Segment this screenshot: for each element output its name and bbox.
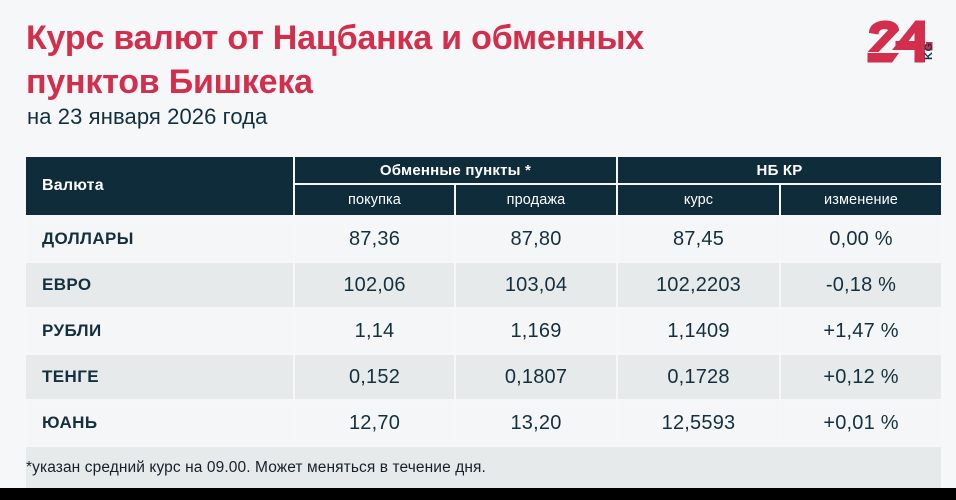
cell-currency-name: ДОЛЛАРЫ (26, 217, 293, 261)
column-header-currency: Валюта (26, 157, 293, 215)
cell-sell: 0,1807 (456, 355, 616, 399)
cell-currency-name: ЮАНЬ (26, 401, 293, 445)
cell-change: -0,18 % (781, 263, 941, 307)
cell-rate: 1,1409 (618, 309, 779, 353)
cell-rate: 102,2203 (618, 263, 779, 307)
cell-buy: 102,06 (295, 263, 454, 307)
cell-currency-name: РУБЛИ (26, 309, 293, 353)
table-head: Валюта Обменные пункты * НБ КР покупка п… (26, 157, 941, 215)
table-row: ДОЛЛАРЫ 87,36 87,80 87,45 0,00 % (26, 217, 941, 261)
bottom-bar (0, 488, 956, 500)
cell-buy: 87,36 (295, 217, 454, 261)
svg-text:KG: KG (923, 43, 935, 61)
table-row: ТЕНГЕ 0,152 0,1807 0,1728 +0,12 % (26, 355, 941, 399)
cell-currency-name: ТЕНГЕ (26, 355, 293, 399)
cell-currency-name: ЕВРО (26, 263, 293, 307)
cell-sell: 87,80 (456, 217, 616, 261)
table-body: ДОЛЛАРЫ 87,36 87,80 87,45 0,00 % ЕВРО 10… (26, 217, 941, 488)
column-header-sell: продажа (456, 185, 616, 215)
page-title: Курс валют от Нацбанка и обменных пункто… (26, 17, 726, 104)
cell-sell: 1,169 (456, 309, 616, 353)
column-header-buy: покупка (295, 185, 454, 215)
table-row: ЮАНЬ 12,70 13,20 12,5593 +0,01 % (26, 401, 941, 445)
cell-change: +0,12 % (781, 355, 941, 399)
column-header-change: изменение (781, 185, 941, 215)
cell-buy: 12,70 (295, 401, 454, 445)
cell-buy: 1,14 (295, 309, 454, 353)
page-header: Курс валют от Нацбанка и обменных пункто… (0, 0, 956, 148)
table-header-group-row: Валюта Обменные пункты * НБ КР (26, 157, 941, 183)
exchange-rate-table-wrapper: Валюта Обменные пункты * НБ КР покупка п… (24, 155, 931, 490)
cell-change: 0,00 % (781, 217, 941, 261)
exchange-rate-table: Валюта Обменные пункты * НБ КР покупка п… (24, 155, 943, 490)
table-row: РУБЛИ 1,14 1,169 1,1409 +1,47 % (26, 309, 941, 353)
cell-change: +0,01 % (781, 401, 941, 445)
brand-logo-24kg[interactable]: KG (866, 20, 940, 66)
table-row: ЕВРО 102,06 103,04 102,2203 -0,18 % (26, 263, 941, 307)
cell-rate: 0,1728 (618, 355, 779, 399)
cell-sell: 13,20 (456, 401, 616, 445)
table-footnote: *указан средний курс на 09.00. Может мен… (26, 447, 941, 488)
column-group-header-exchange-offices: Обменные пункты * (295, 157, 616, 183)
cell-rate: 87,45 (618, 217, 779, 261)
column-group-header-nbkr: НБ КР (618, 157, 941, 183)
table-footnote-row: *указан средний курс на 09.00. Может мен… (26, 447, 941, 488)
cell-change: +1,47 % (781, 309, 941, 353)
cell-sell: 103,04 (456, 263, 616, 307)
column-header-rate: курс (618, 185, 779, 215)
cell-rate: 12,5593 (618, 401, 779, 445)
logo-24-icon: KG (866, 20, 940, 66)
page-subtitle-date: на 23 января 2026 года (27, 104, 267, 130)
cell-buy: 0,152 (295, 355, 454, 399)
